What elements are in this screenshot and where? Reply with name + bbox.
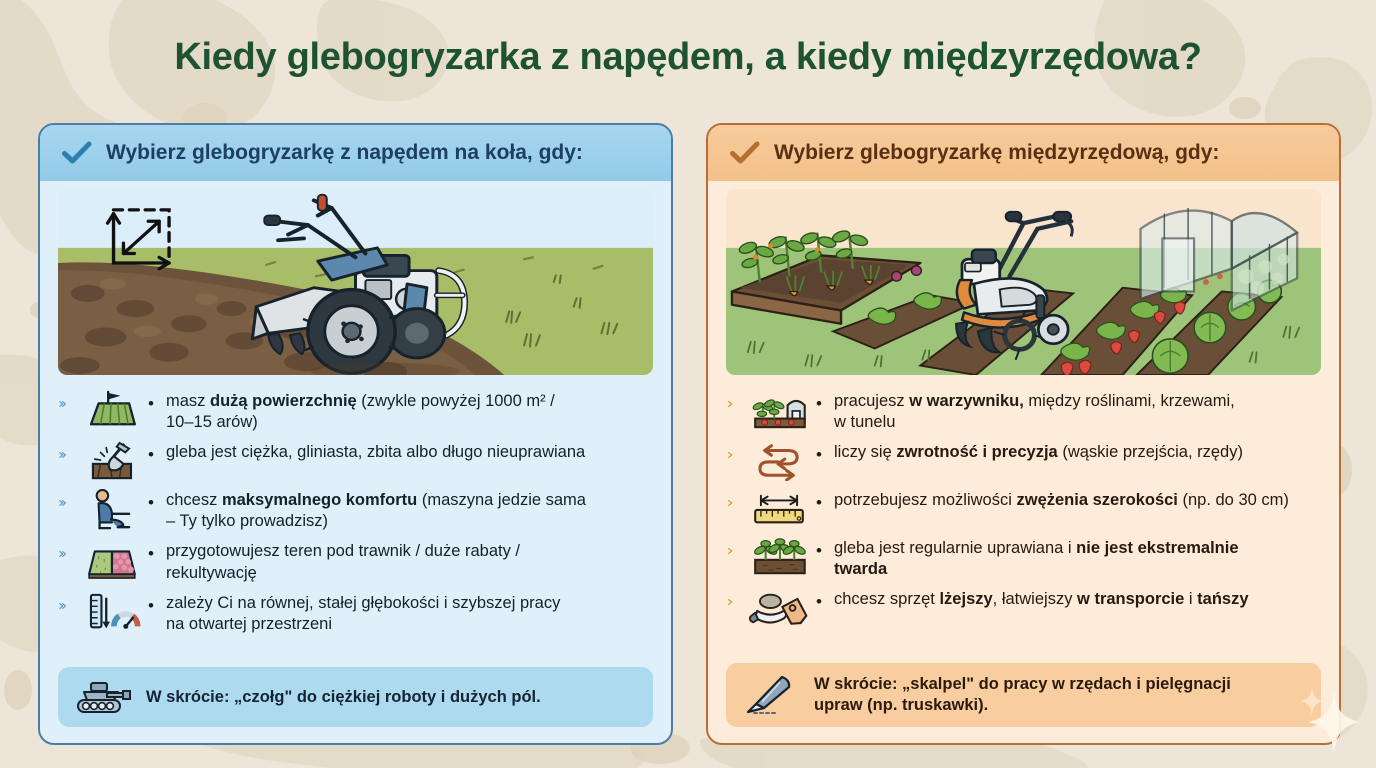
list-item: • gleba jest ciężka, gliniasta, zbita al… bbox=[52, 436, 655, 484]
right-illustration-wrap bbox=[708, 181, 1339, 381]
list-item: • liczy się zwrotność i precyzja (wąskie… bbox=[720, 436, 1323, 484]
bullet-dot: • bbox=[816, 487, 828, 511]
ruler-width-icon bbox=[748, 487, 810, 529]
bullet-text: potrzebujesz możliwości zwężenia szeroko… bbox=[834, 487, 1289, 511]
bullet-dot: • bbox=[148, 487, 160, 511]
bullet-dot: • bbox=[816, 535, 828, 559]
bullet-text: pracujesz w warzywniku, między roślinami… bbox=[834, 388, 1235, 433]
chevron-right-icon bbox=[52, 388, 74, 408]
lawn-and-flowerbed-icon bbox=[80, 538, 142, 580]
chevron-right-icon bbox=[720, 388, 742, 408]
bullet-text: liczy się zwrotność i precyzja (wąskie p… bbox=[834, 439, 1243, 463]
hand-with-price-tag-icon bbox=[748, 586, 810, 628]
panel-left-title: Wybierz glebogryzarkę z napędem na koła,… bbox=[106, 141, 583, 165]
chevron-right-icon bbox=[52, 538, 74, 558]
two-wheel-tractor-tilling-field-illustration bbox=[58, 189, 653, 375]
check-icon bbox=[730, 141, 760, 165]
list-item: • zależy Ci na równej, stałej głębokości… bbox=[52, 587, 655, 638]
panel-right-header: Wybierz glebogryzarkę międzyrzędową, gdy… bbox=[708, 125, 1339, 181]
scalpel-icon bbox=[742, 674, 800, 716]
bullet-dot: • bbox=[148, 538, 160, 562]
chevron-right-icon bbox=[52, 590, 74, 610]
list-item: • pracujesz w warzywniku, między roślina… bbox=[720, 385, 1323, 436]
bullet-text: masz dużą powierzchnię (zwykle powyżej 1… bbox=[166, 388, 555, 433]
panel-drive-tiller: Wybierz glebogryzarkę z napędem na koła,… bbox=[38, 123, 673, 745]
bullet-text: chcesz maksymalnego komfortu (maszyna je… bbox=[166, 487, 586, 532]
bullet-dot: • bbox=[816, 388, 828, 412]
depth-gauge-icon bbox=[80, 590, 142, 634]
list-item: • potrzebujesz możliwości zwężenia szero… bbox=[720, 484, 1323, 532]
bullet-dot: • bbox=[148, 590, 160, 614]
chevron-right-icon bbox=[720, 535, 742, 555]
right-summary-box: W skrócie: „skalpel" do pracy w rzędach … bbox=[726, 663, 1321, 727]
list-item: • masz dużą powierzchnię (zwykle powyżej… bbox=[52, 385, 655, 436]
left-illustration-wrap bbox=[40, 181, 671, 381]
bullet-dot: • bbox=[148, 439, 160, 463]
turning-arrows-icon bbox=[748, 439, 810, 481]
bullet-dot: • bbox=[816, 439, 828, 463]
list-item: • chcesz sprzęt lżejszy, łatwiejszy w tr… bbox=[720, 583, 1323, 631]
seedlings-in-soil-icon bbox=[748, 535, 810, 577]
bullet-dot: • bbox=[148, 388, 160, 412]
left-summary-text: W skrócie: „czołg" do ciężkiej roboty i … bbox=[146, 687, 541, 708]
shovel-in-hard-soil-icon bbox=[80, 439, 142, 481]
chevron-right-icon bbox=[720, 487, 742, 507]
field-with-flag-icon bbox=[80, 388, 142, 430]
panel-inter-row-tiller: Wybierz glebogryzarkę międzyrzędową, gdy… bbox=[706, 123, 1341, 745]
left-bullet-list: • masz dużą powierzchnię (zwykle powyżej… bbox=[40, 381, 671, 661]
bullet-text: gleba jest ciężka, gliniasta, zbita albo… bbox=[166, 439, 585, 463]
bullet-text: zależy Ci na równej, stałej głębokości i… bbox=[166, 590, 560, 635]
right-summary-text: W skrócie: „skalpel" do pracy w rzędach … bbox=[814, 674, 1231, 715]
list-item: • przygotowujesz teren pod trawnik / duż… bbox=[52, 535, 655, 586]
garden-tiller-between-vegetable-beds-with-greenhouse-illustration bbox=[726, 189, 1321, 375]
chevron-right-icon bbox=[720, 439, 742, 459]
chevron-right-icon bbox=[52, 439, 74, 459]
bullet-text: przygotowujesz teren pod trawnik / duże … bbox=[166, 538, 520, 583]
seated-relaxed-person-icon bbox=[80, 487, 142, 531]
bullet-dot: • bbox=[816, 586, 828, 610]
chevron-right-icon bbox=[52, 487, 74, 507]
list-item: • gleba jest regularnie uprawiana i nie … bbox=[720, 532, 1323, 583]
left-summary-box: W skrócie: „czołg" do ciężkiej roboty i … bbox=[58, 667, 653, 727]
tank-icon bbox=[74, 678, 132, 716]
panel-left-header: Wybierz glebogryzarkę z napędem na koła,… bbox=[40, 125, 671, 181]
panel-right-title: Wybierz glebogryzarkę międzyrzędową, gdy… bbox=[774, 141, 1219, 165]
chevron-right-icon bbox=[720, 586, 742, 606]
list-item: • chcesz maksymalnego komfortu (maszyna … bbox=[52, 484, 655, 535]
vegetable-bed-greenhouse-icon bbox=[748, 388, 810, 430]
bullet-text: chcesz sprzęt lżejszy, łatwiejszy w tran… bbox=[834, 586, 1249, 610]
page-title: Kiedy glebogryzarka z napędem, a kiedy m… bbox=[0, 36, 1376, 79]
right-bullet-list: • pracujesz w warzywniku, między roślina… bbox=[708, 381, 1339, 657]
check-icon bbox=[62, 141, 92, 165]
bullet-text: gleba jest regularnie uprawiana i nie je… bbox=[834, 535, 1239, 580]
